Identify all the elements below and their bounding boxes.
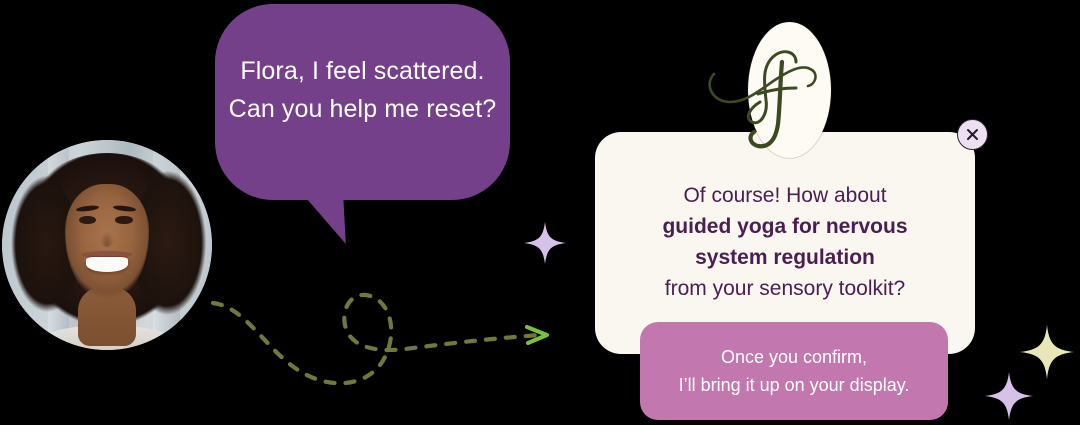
confirm-banner-text: Once you confirm, I’ll bring it up on yo… [679, 343, 910, 399]
user-speech-bubble-text: Flora, I feel scattered. Can you help me… [215, 52, 510, 128]
conversation-scene: Flora, I feel scattered. Can you help me… [0, 0, 1080, 425]
sparkle-right-upper-icon [1020, 325, 1074, 379]
speech-bubble-tail [272, 172, 346, 248]
flora-logo-badge [748, 22, 831, 158]
assistant-card-text: Of course! How about guided yoga for ner… [612, 180, 958, 304]
confirm-line-1: Once you confirm, [679, 343, 910, 371]
close-icon [965, 127, 980, 142]
avatar-photo [2, 140, 212, 350]
close-card-button[interactable] [957, 119, 988, 150]
sparkle-center-icon [524, 222, 566, 264]
user-bubble-line-2: Can you help me reset? [215, 90, 510, 128]
user-bubble-line-1: Flora, I feel scattered. [215, 52, 510, 90]
assistant-line-1: Of course! How about [612, 180, 958, 211]
sparkle-right-lower-icon [985, 372, 1033, 420]
assistant-line-2: guided yoga for nervous [612, 211, 958, 242]
assistant-line-3: system regulation [612, 242, 958, 273]
user-avatar [2, 140, 212, 350]
dashed-flow-arrow [195, 245, 585, 410]
confirm-display-banner[interactable]: Once you confirm, I’ll bring it up on yo… [640, 322, 948, 420]
assistant-line-4: from your sensory toolkit? [612, 273, 958, 304]
confirm-line-2: I’ll bring it up on your display. [679, 371, 910, 399]
